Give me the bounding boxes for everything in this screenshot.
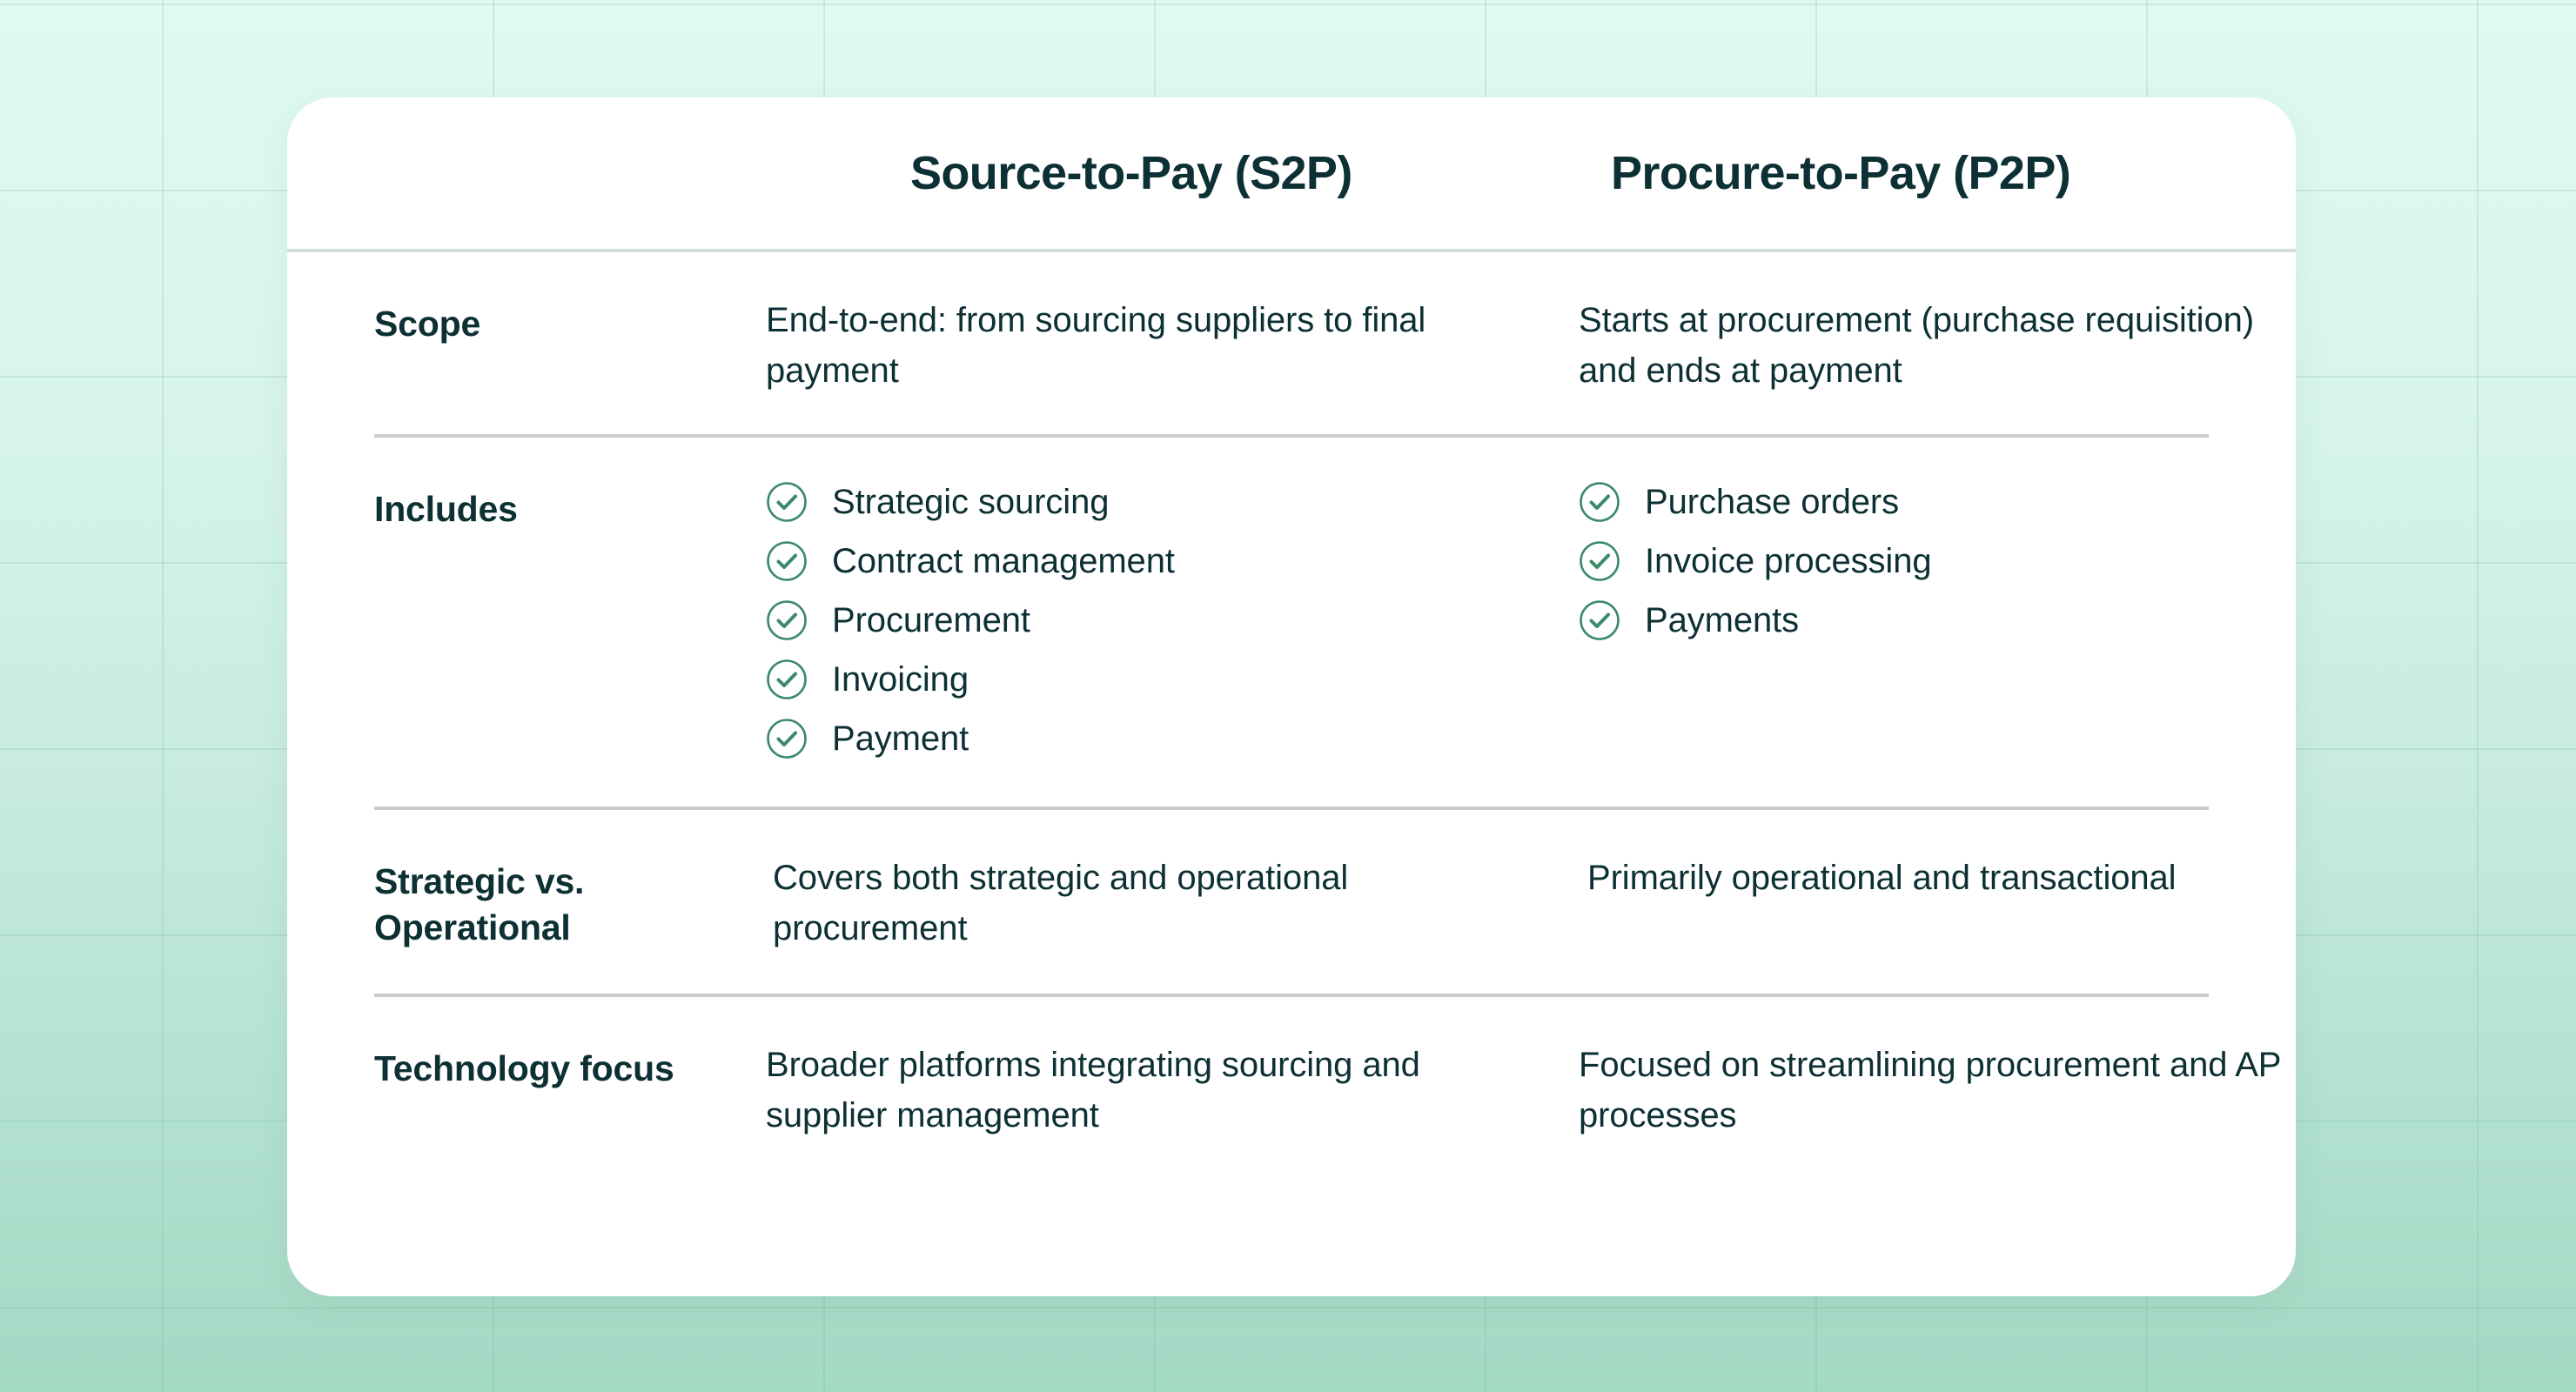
cell-scope-p2p: Starts at procurement (purchase requisit…	[1540, 296, 2296, 396]
cell-text: Starts at procurement (purchase requisit…	[1579, 296, 2296, 396]
list-item: Strategic sourcing	[766, 481, 1506, 523]
table-row: Strategic vs. Operational Covers both st…	[287, 810, 2296, 997]
list-item: Payment	[766, 718, 1506, 760]
cell-text: Covers both strategic and operational pr…	[766, 853, 1506, 954]
list-item-label: Invoice processing	[1645, 540, 1932, 582]
check-circle-icon	[766, 659, 808, 700]
check-list-p2p: Purchase orders Invoice processing	[1579, 481, 2296, 641]
check-circle-icon	[766, 718, 808, 760]
column-header-p2p: Procure-to-Pay (P2P)	[1511, 146, 2296, 200]
table-row: Includes Strategic sourcing	[287, 438, 2296, 810]
list-item: Purchase orders	[1579, 481, 2296, 523]
list-item-label: Purchase orders	[1645, 481, 1899, 523]
list-item: Procurement	[766, 599, 1506, 641]
cell-includes-p2p: Purchase orders Invoice processing	[1540, 481, 2296, 641]
table-header-row: Source-to-Pay (S2P) Procure-to-Pay (P2P)	[287, 97, 2296, 252]
column-header-s2p: Source-to-Pay (S2P)	[728, 146, 1453, 200]
cell-text: End-to-end: from sourcing suppliers to f…	[766, 296, 1506, 396]
header-cell-s2p: Source-to-Pay (S2P)	[679, 146, 1453, 200]
cell-strategic-p2p: Primarily operational and transactional	[1540, 853, 2296, 904]
cell-text: Focused on streamlining procurement and …	[1579, 1041, 2296, 1141]
cell-text: Broader platforms integrating sourcing a…	[766, 1041, 1506, 1141]
list-item-label: Payment	[832, 718, 969, 760]
list-item-label: Strategic sourcing	[832, 481, 1109, 523]
cell-scope-s2p: End-to-end: from sourcing suppliers to f…	[766, 296, 1540, 396]
cell-strategic-s2p: Covers both strategic and operational pr…	[766, 853, 1540, 954]
header-cell-p2p: Procure-to-Pay (P2P)	[1453, 146, 2296, 200]
row-label-strategic-vs-operational: Strategic vs. Operational	[374, 853, 766, 950]
list-item-label: Contract management	[832, 540, 1175, 582]
comparison-card: Source-to-Pay (S2P) Procure-to-Pay (P2P)…	[287, 97, 2296, 1296]
check-circle-icon	[766, 481, 808, 523]
list-item-label: Payments	[1645, 599, 1799, 641]
list-item: Payments	[1579, 599, 2296, 641]
check-circle-icon	[1579, 481, 1620, 523]
row-label-includes: Includes	[374, 481, 766, 532]
row-label-scope: Scope	[374, 296, 766, 346]
row-label-technology-focus: Technology focus	[374, 1041, 766, 1091]
check-circle-icon	[1579, 599, 1620, 641]
check-circle-icon	[766, 599, 808, 641]
table-row: Technology focus Broader platforms integ…	[287, 997, 2296, 1179]
cell-text: Primarily operational and transactional	[1579, 853, 2296, 904]
cell-includes-s2p: Strategic sourcing Contract management	[766, 481, 1540, 760]
list-item-label: Procurement	[832, 599, 1030, 641]
list-item: Invoice processing	[1579, 540, 2296, 582]
check-circle-icon	[1579, 540, 1620, 582]
list-item-label: Invoicing	[832, 659, 969, 700]
list-item: Invoicing	[766, 659, 1506, 700]
table-row: Scope End-to-end: from sourcing supplier…	[287, 252, 2296, 438]
check-circle-icon	[766, 540, 808, 582]
cell-technology-s2p: Broader platforms integrating sourcing a…	[766, 1041, 1540, 1141]
check-list-s2p: Strategic sourcing Contract management	[766, 481, 1506, 760]
cell-technology-p2p: Focused on streamlining procurement and …	[1540, 1041, 2296, 1141]
list-item: Contract management	[766, 540, 1506, 582]
